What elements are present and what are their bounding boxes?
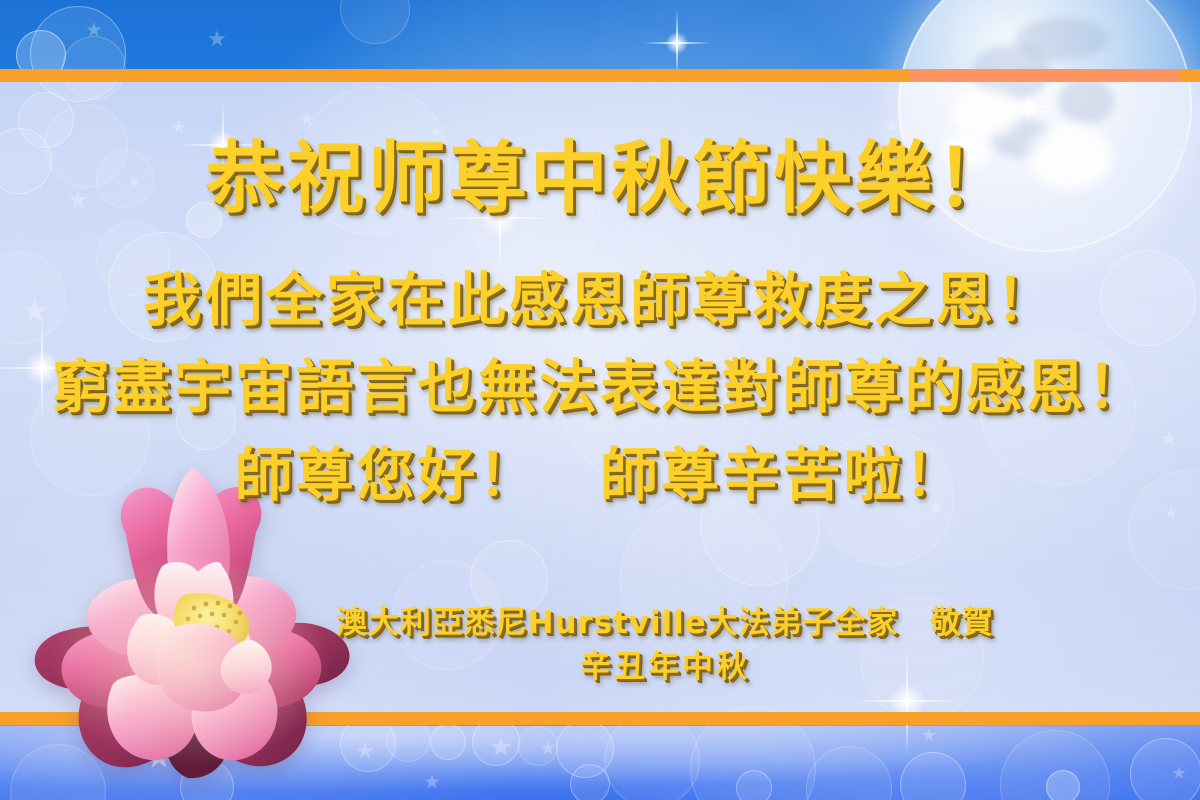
greeting-card: 恭祝师尊中秋節快樂！ 我們全家在此感恩師尊救度之恩！ 窮盡宇宙語言也無法表達對師… xyxy=(0,0,1200,800)
card-line-3: 師尊您好！ 師尊辛苦啦！ xyxy=(0,443,1200,507)
card-signature: 澳大利亞悉尼Hurstville大法弟子全家 敬賀 xyxy=(0,604,1200,642)
card-line-1: 我們全家在此感恩師尊救度之恩！ xyxy=(0,268,1200,332)
card-title: 恭祝师尊中秋節快樂！ xyxy=(0,136,1200,222)
card-line-2: 窮盡宇宙語言也無法表達對師尊的感恩！ xyxy=(0,355,1200,419)
card-dateline: 辛丑年中秋 xyxy=(0,648,1200,686)
text-layer: 恭祝师尊中秋節快樂！ 我們全家在此感恩師尊救度之恩！ 窮盡宇宙語言也無法表達對師… xyxy=(0,0,1200,800)
